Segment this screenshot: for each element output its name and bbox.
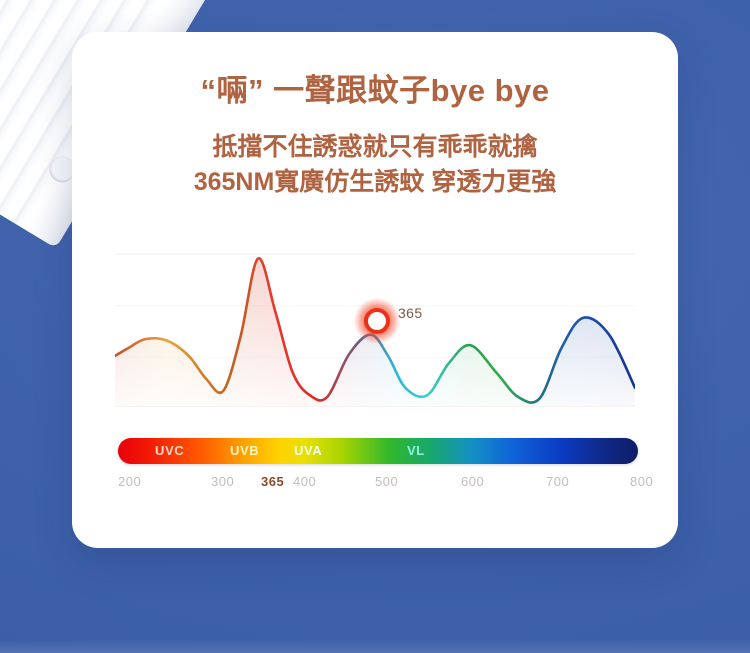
spectrum-chart: 365 xyxy=(115,246,635,431)
wavelength-axis: 200300365400500600700800 xyxy=(118,474,658,496)
promo-page: “啢” 一聲跟蚊子bye bye 抵擋不住誘惑就只有乖乖就擒 365NM寬廣仿生… xyxy=(0,0,750,653)
axis-tick-800: 800 xyxy=(630,474,653,489)
axis-tick-600: 600 xyxy=(461,474,484,489)
background-sheen xyxy=(0,639,750,653)
peak-annotation-label: 365 xyxy=(398,305,423,321)
peak-marker-icon xyxy=(368,312,386,330)
content-card: “啢” 一聲跟蚊子bye bye 抵擋不住誘惑就只有乖乖就擒 365NM寬廣仿生… xyxy=(72,32,678,548)
spectrum-band-uvb: UVB xyxy=(230,443,259,458)
axis-tick-500: 500 xyxy=(375,474,398,489)
axis-tick-300: 300 xyxy=(211,474,234,489)
axis-tick-200: 200 xyxy=(118,474,141,489)
axis-tick-700: 700 xyxy=(546,474,569,489)
subtitle-line-1: 抵擋不住誘惑就只有乖乖就擒 xyxy=(72,130,678,165)
axis-tick-400: 400 xyxy=(293,474,316,489)
spectrum-band-vl: VL xyxy=(407,443,425,458)
spectrum-band-uvc: UVC xyxy=(155,443,184,458)
axis-tick-365: 365 xyxy=(261,474,284,489)
page-title: “啢” 一聲跟蚊子bye bye xyxy=(72,32,678,108)
page-subtitle: 抵擋不住誘惑就只有乖乖就擒 365NM寬廣仿生誘蚊 穿透力更強 xyxy=(72,108,678,199)
spectrum-band-uva: UVA xyxy=(294,443,322,458)
subtitle-line-2: 365NM寬廣仿生誘蚊 穿透力更強 xyxy=(72,165,678,200)
spectrum-bar: UVC UVB UVA VL xyxy=(118,438,638,464)
